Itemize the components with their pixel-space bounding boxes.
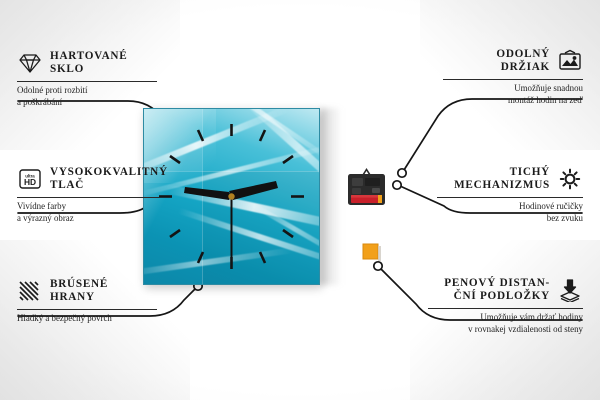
wall-frame-hook-icon	[557, 49, 583, 73]
feature-divider	[443, 79, 583, 80]
feature-description: Hodinové ručičky bez zvuku	[437, 201, 583, 224]
feature-description: Umožňuje snadnou montáž hodin na zeď	[443, 83, 583, 106]
diagonal-stripes-icon	[17, 279, 43, 303]
clock-drop-shadow	[320, 108, 342, 285]
feature-title: VYSOKOKVALITNÝ TLAČ	[50, 166, 168, 193]
feature-durable-holder: ODOLNÝ DRŽIAK Umožňuje snadnou montáž ho…	[443, 48, 583, 106]
feature-divider	[17, 81, 157, 82]
feature-divider	[428, 308, 583, 309]
gear-icon	[557, 167, 583, 191]
feature-title: PENOVÝ DISTAN- ČNÍ PODLOŽKY	[444, 277, 550, 304]
feature-description: Hladký a bezpečný povrch	[17, 313, 157, 324]
feature-description: Odolné proti rozbití a poškrábání	[17, 85, 157, 108]
feature-divider	[17, 309, 157, 310]
connector-node-foam-spacers	[374, 262, 382, 270]
feature-high-quality-print: ultra HD VYSOKOKVALITNÝ TLAČ Vivídne far…	[17, 166, 159, 224]
feature-title: TICHÝ MECHANIZMUS	[454, 166, 550, 193]
feature-title: BRÚSENÉ HRANY	[50, 278, 108, 305]
feature-divider	[437, 197, 583, 198]
feature-ground-edges: BRÚSENÉ HRANY Hladký a bezpečný povrch	[17, 278, 157, 325]
feature-description: Vivídne farby a výrazný obraz	[17, 201, 159, 224]
feature-silent-mechanism: TICHÝ MECHANIZMUS Hodinové ručičky bez z…	[437, 166, 583, 224]
feature-title: HARTOVANÉ SKLO	[50, 50, 127, 77]
svg-text:HD: HD	[24, 178, 36, 188]
arrow-down-layers-icon	[557, 278, 583, 302]
connector-node-silent-mechanism	[393, 181, 401, 189]
product-clock	[143, 108, 320, 285]
feature-title: ODOLNÝ DRŽIAK	[496, 48, 550, 75]
feature-description: Umožňuje vám držať hodiny v rovnakej vzd…	[428, 312, 583, 335]
diamond-icon	[17, 51, 43, 75]
ultra-hd-icon: ultra HD	[17, 167, 43, 191]
clock-dial	[143, 108, 320, 285]
feature-divider	[17, 197, 159, 198]
clock-movement	[345, 167, 388, 207]
connector-node-durable-holder	[398, 169, 406, 177]
foam-spacer-pad	[362, 243, 382, 263]
infographic-canvas: HARTOVANÉ SKLO Odolné proti rozbití a po…	[0, 0, 600, 400]
feature-foam-spacers: PENOVÝ DISTAN- ČNÍ PODLOŽKY Umožňuje vám…	[428, 277, 583, 335]
clock-hands	[184, 181, 278, 258]
feature-tempered-glass: HARTOVANÉ SKLO Odolné proti rozbití a po…	[17, 50, 157, 108]
